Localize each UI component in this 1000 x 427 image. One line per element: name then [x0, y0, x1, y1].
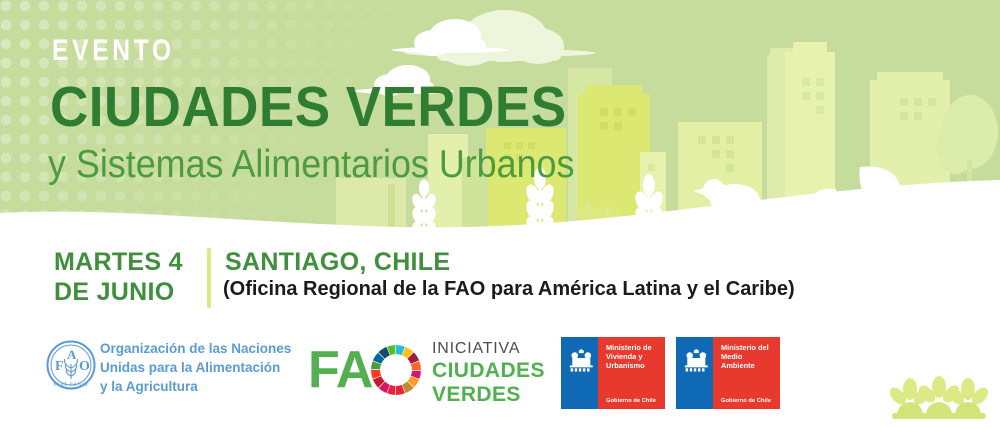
sdg-color-wheel: [371, 345, 421, 395]
logo-strip: F A O FIAT PANIS Organización de las Nac…: [0, 326, 1000, 427]
hero-section: EVENTO CIUDADES VERDES y Sistemas Alimen…: [0, 0, 1000, 238]
event-banner: EVENTO CIUDADES VERDES y Sistemas Alimen…: [0, 0, 1000, 427]
fao-un-line1: Organización de las Naciones: [100, 341, 291, 356]
fao-emblem: F A O FIAT PANIS: [46, 340, 96, 390]
ministry-logo-medio-ambiente: Ministerio del Medio Ambiente Gobierno d…: [676, 337, 780, 409]
svg-text:FA: FA: [308, 342, 373, 398]
ministry-line1: Ministerio de: [606, 343, 652, 352]
fao-un-line2: Unidas para la Alimentación: [100, 360, 280, 375]
plant-row-decoration: [884, 375, 994, 423]
fao-un-name: Organización de las Naciones Unidas para…: [100, 339, 291, 396]
ministry-logo-vivienda: Ministerio de Vivienda y Urbanismo Gobie…: [561, 337, 665, 409]
svg-text:Ambiente: Ambiente: [721, 361, 755, 370]
event-date-line2: DE JUNIO: [54, 278, 174, 306]
wave-divider: [0, 169, 1000, 238]
event-city: SANTIAGO, CHILE: [225, 248, 450, 278]
svg-text:Gobierno de Chile: Gobierno de Chile: [606, 398, 657, 404]
green-cities-wordmark: INICIATIVA CIUDADES VERDES: [432, 340, 545, 407]
svg-text:F: F: [55, 359, 64, 374]
event-date: MARTES 4 DE JUNIO: [54, 248, 183, 307]
vertical-divider: [207, 248, 211, 308]
green-cities-logo: FA: [308, 342, 426, 398]
green-cities-line3: VERDES: [432, 383, 545, 407]
green-cities-line1: INICIATIVA: [432, 340, 545, 359]
event-kicker: EVENTO: [52, 36, 175, 66]
svg-text:Urbanismo: Urbanismo: [606, 361, 645, 370]
svg-text:Vivienda y: Vivienda y: [606, 352, 643, 361]
event-date-line1: MARTES 4: [54, 248, 183, 276]
svg-text:Ministerio del: Ministerio del: [721, 343, 769, 352]
green-cities-line2: CIUDADES: [432, 359, 545, 383]
svg-text:O: O: [79, 359, 90, 374]
page-title: CIUDADES VERDES: [50, 78, 567, 138]
svg-text:Gobierno de Chile: Gobierno de Chile: [721, 398, 772, 404]
fao-un-line3: y la Agricultura: [100, 379, 198, 394]
svg-text:A: A: [67, 347, 77, 362]
event-details: MARTES 4 DE JUNIO SANTIAGO, CHILE (Ofici…: [0, 238, 1000, 318]
svg-text:FIAT PANIS: FIAT PANIS: [54, 382, 89, 388]
svg-text:Medio: Medio: [721, 352, 743, 361]
event-venue: (Oficina Regional de la FAO para América…: [223, 278, 795, 302]
